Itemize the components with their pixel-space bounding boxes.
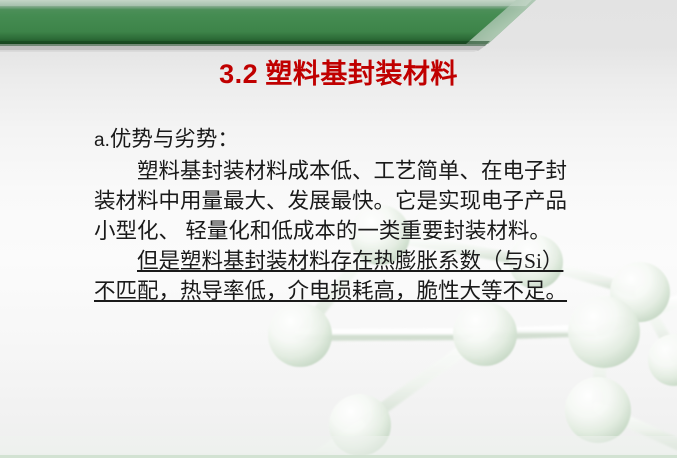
body-paragraph-disadvantages: 但是塑料基封装材料存在热膨胀系数（与Si）不匹配，热导率低，介电损耗高，脆性大等… [94,246,574,306]
body-paragraph-advantages: 塑料基封装材料成本低、工艺简单、在电子封装材料中用量最大、发展最快。它是实现电子… [94,156,574,246]
green-angled-banner [0,0,536,52]
slide-body-text: a.优势与劣势： 塑料基封装材料成本低、工艺简单、在电子封装材料中用量最大、发展… [94,124,574,306]
heading-label: a. [94,130,110,151]
heading-text: 优势与劣势： [110,127,239,151]
presentation-slide: 3.2 塑料基封装材料 a.优势与劣势： 塑料基封装材料成本低、工艺简单、在电子… [0,0,677,458]
title-text: 塑料基封装材料 [265,59,458,89]
body-paragraph-heading: a.优势与劣势： [94,124,574,156]
title-number: 3.2 [219,59,258,89]
page-title: 3.2 塑料基封装材料 [0,58,677,90]
